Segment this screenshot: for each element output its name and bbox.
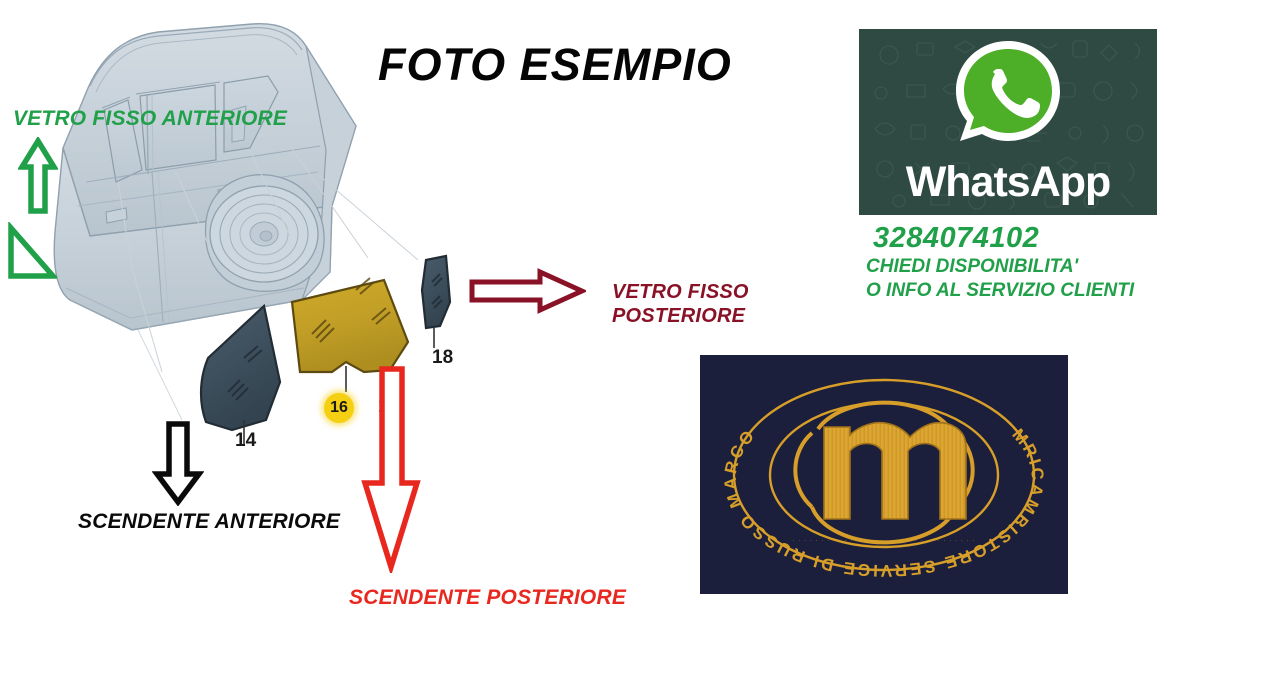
part-14-shape	[201, 306, 280, 446]
label-vetro-fisso-posteriore: VETRO FISSO POSTERIORE	[612, 281, 749, 328]
whatsapp-logo-icon	[948, 35, 1068, 153]
part-number-14: 14	[235, 430, 256, 452]
label-scendente-posteriore: SCENDENTE POSTERIORE	[349, 586, 626, 611]
shop-logo-monogram	[824, 423, 966, 519]
contact-line-customer-service: O INFO AL SERVIZIO CLIENTI	[866, 279, 1134, 303]
poster-canvas: 14 17 18 16 FOTO ESEMPIO VETRO FISSO ANT…	[0, 0, 1264, 678]
red-down-arrow-icon	[360, 365, 422, 573]
green-triangle-arrow-icon	[5, 222, 57, 284]
green-up-arrow-icon	[18, 137, 58, 215]
shop-logo-emblem: MRICAMBISTORE SERVICE DI RUSSO MARCO . .…	[700, 355, 1068, 594]
whatsapp-banner: WhatsApp	[859, 29, 1157, 215]
contact-block: 3284074102 CHIEDI DISPONIBILITA' O INFO …	[866, 222, 1134, 304]
black-down-arrow-icon	[152, 420, 204, 506]
contact-line-availability: CHIEDI DISPONIBILITA'	[866, 255, 1134, 279]
label-scendente-anteriore: SCENDENTE ANTERIORE	[78, 510, 340, 535]
whatsapp-wordmark: WhatsApp	[859, 158, 1157, 207]
page-title: FOTO ESEMPIO	[378, 38, 732, 91]
contact-phone-number: 3284074102	[873, 222, 1134, 255]
shop-logo-banner: MRICAMBISTORE SERVICE DI RUSSO MARCO . .…	[700, 355, 1068, 594]
label-vetro-fisso-anteriore: VETRO FISSO ANTERIORE	[13, 107, 287, 132]
part-number-18: 18	[432, 347, 453, 369]
part-badge-16: 16	[324, 393, 354, 423]
part-18-shape	[422, 256, 450, 348]
shop-logo-motto: . . . . . . . . . . . . . . . . . . . . …	[792, 536, 975, 543]
dark-red-right-arrow-icon	[468, 268, 586, 314]
